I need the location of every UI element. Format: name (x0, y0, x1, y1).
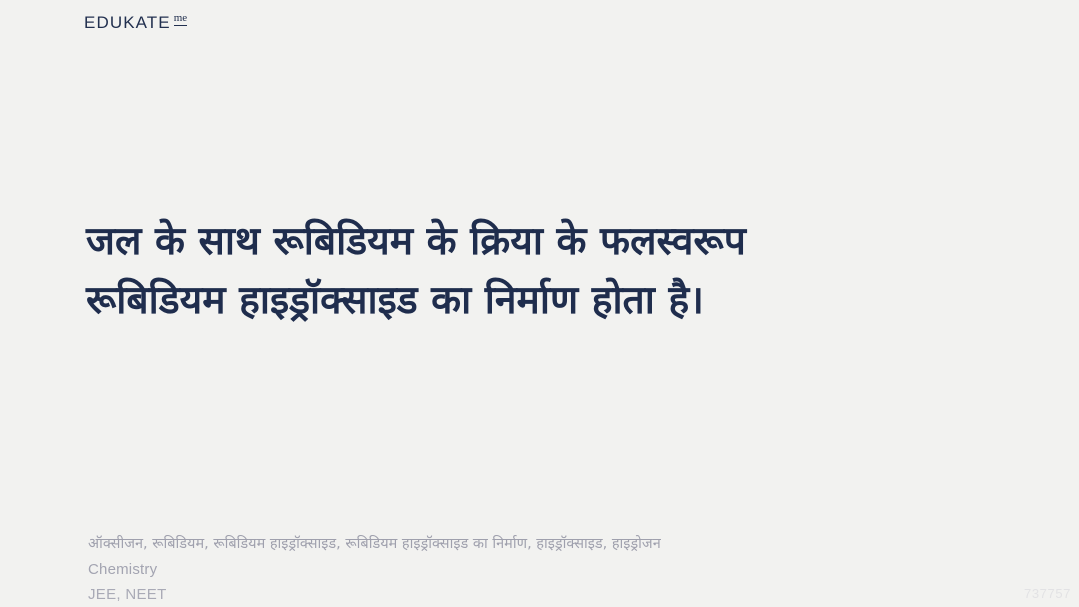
exams-label: JEE, NEET (88, 582, 661, 607)
keywords-list: ऑक्सीजन, रूबिडियम, रूबिडियम हाइड्रॉक्साइ… (88, 532, 661, 557)
question-heading: जल के साथ रूबिडियम के क्रिया के फलस्वरूप… (86, 212, 996, 331)
brand-logo[interactable]: EDUKATE me (84, 14, 187, 31)
brand-suffix: me (174, 13, 187, 26)
heading-line-2: रूबिडियम हाइड्रॉक्साइड का निर्माण होता ह… (86, 271, 996, 330)
footer-metadata: ऑक्सीजन, रूबिडियम, रूबिडियम हाइड्रॉक्साइ… (88, 532, 661, 607)
heading-line-1: जल के साथ रूबिडियम के क्रिया के फलस्वरूप (86, 212, 996, 271)
slide-canvas: EDUKATE me जल के साथ रूबिडियम के क्रिया … (0, 0, 1079, 607)
slide-id-watermark: 737757 (1024, 586, 1071, 601)
brand-wordmark: EDUKATE (84, 14, 171, 31)
subject-label: Chemistry (88, 557, 661, 582)
